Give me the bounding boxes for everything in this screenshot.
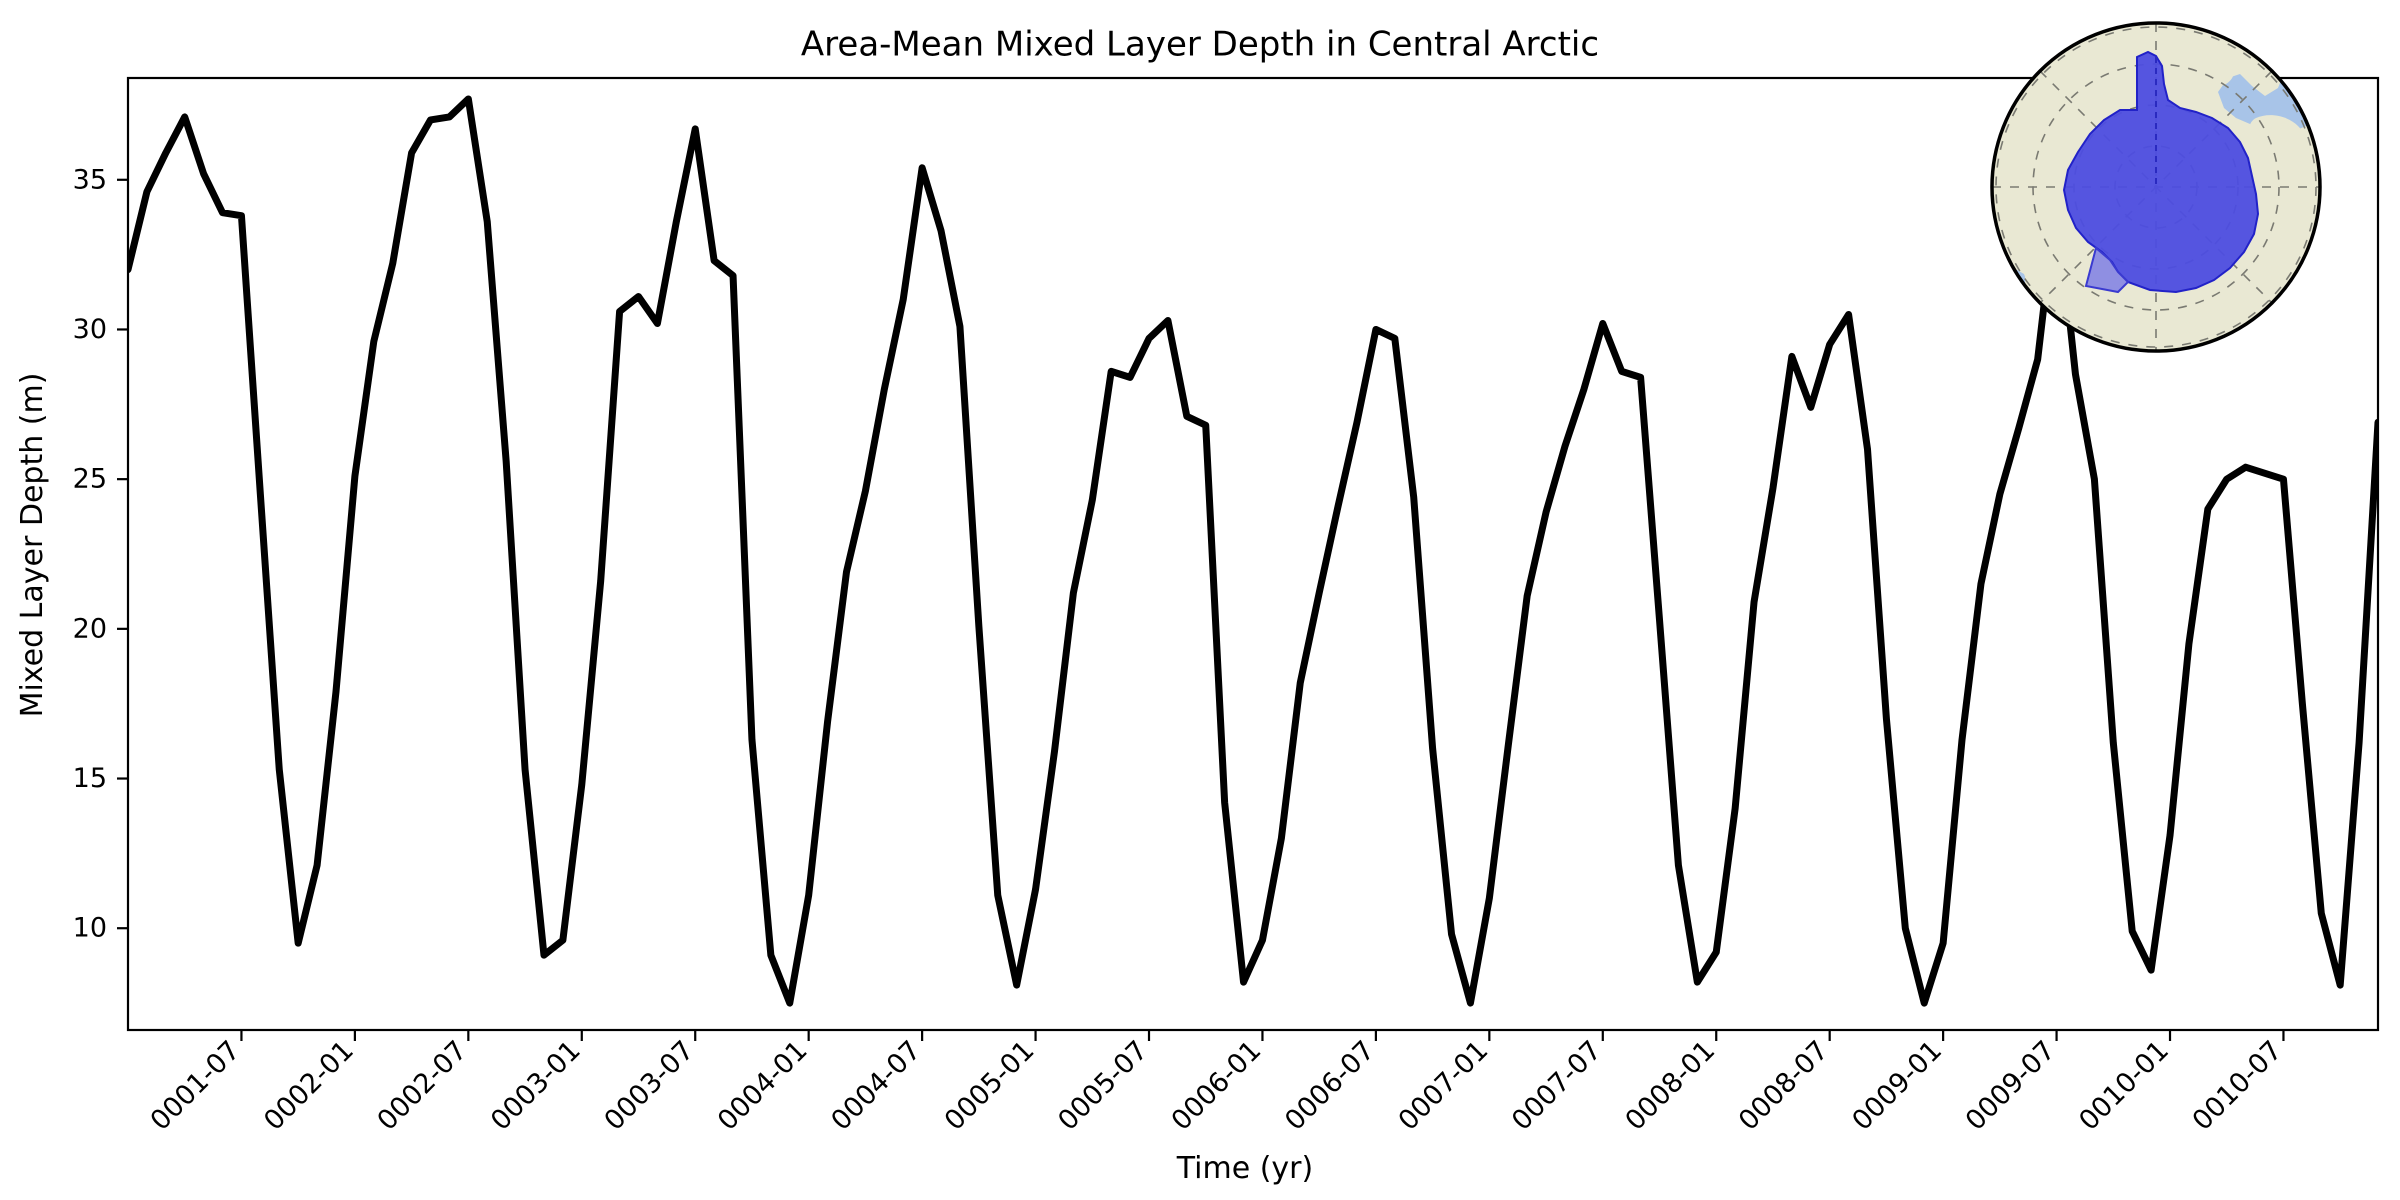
y-tick-label: 25 — [73, 464, 107, 495]
figure-canvas: Area-Mean Mixed Layer Depth in Central A… — [0, 0, 2400, 1200]
y-axis-label: Mixed Layer Depth (m) — [15, 373, 50, 718]
y-tick-label: 10 — [73, 913, 107, 944]
y-tick-label: 20 — [73, 613, 107, 644]
y-tick-label: 30 — [73, 314, 107, 345]
mixed-layer-depth-chart: Area-Mean Mixed Layer Depth in Central A… — [0, 0, 2400, 1200]
inset-map — [1990, 23, 2320, 351]
y-tick-label: 15 — [73, 763, 107, 794]
y-tick-label: 35 — [73, 164, 107, 195]
x-axis-label: Time (yr) — [1176, 1151, 1313, 1186]
chart-title: Area-Mean Mixed Layer Depth in Central A… — [801, 25, 1599, 65]
